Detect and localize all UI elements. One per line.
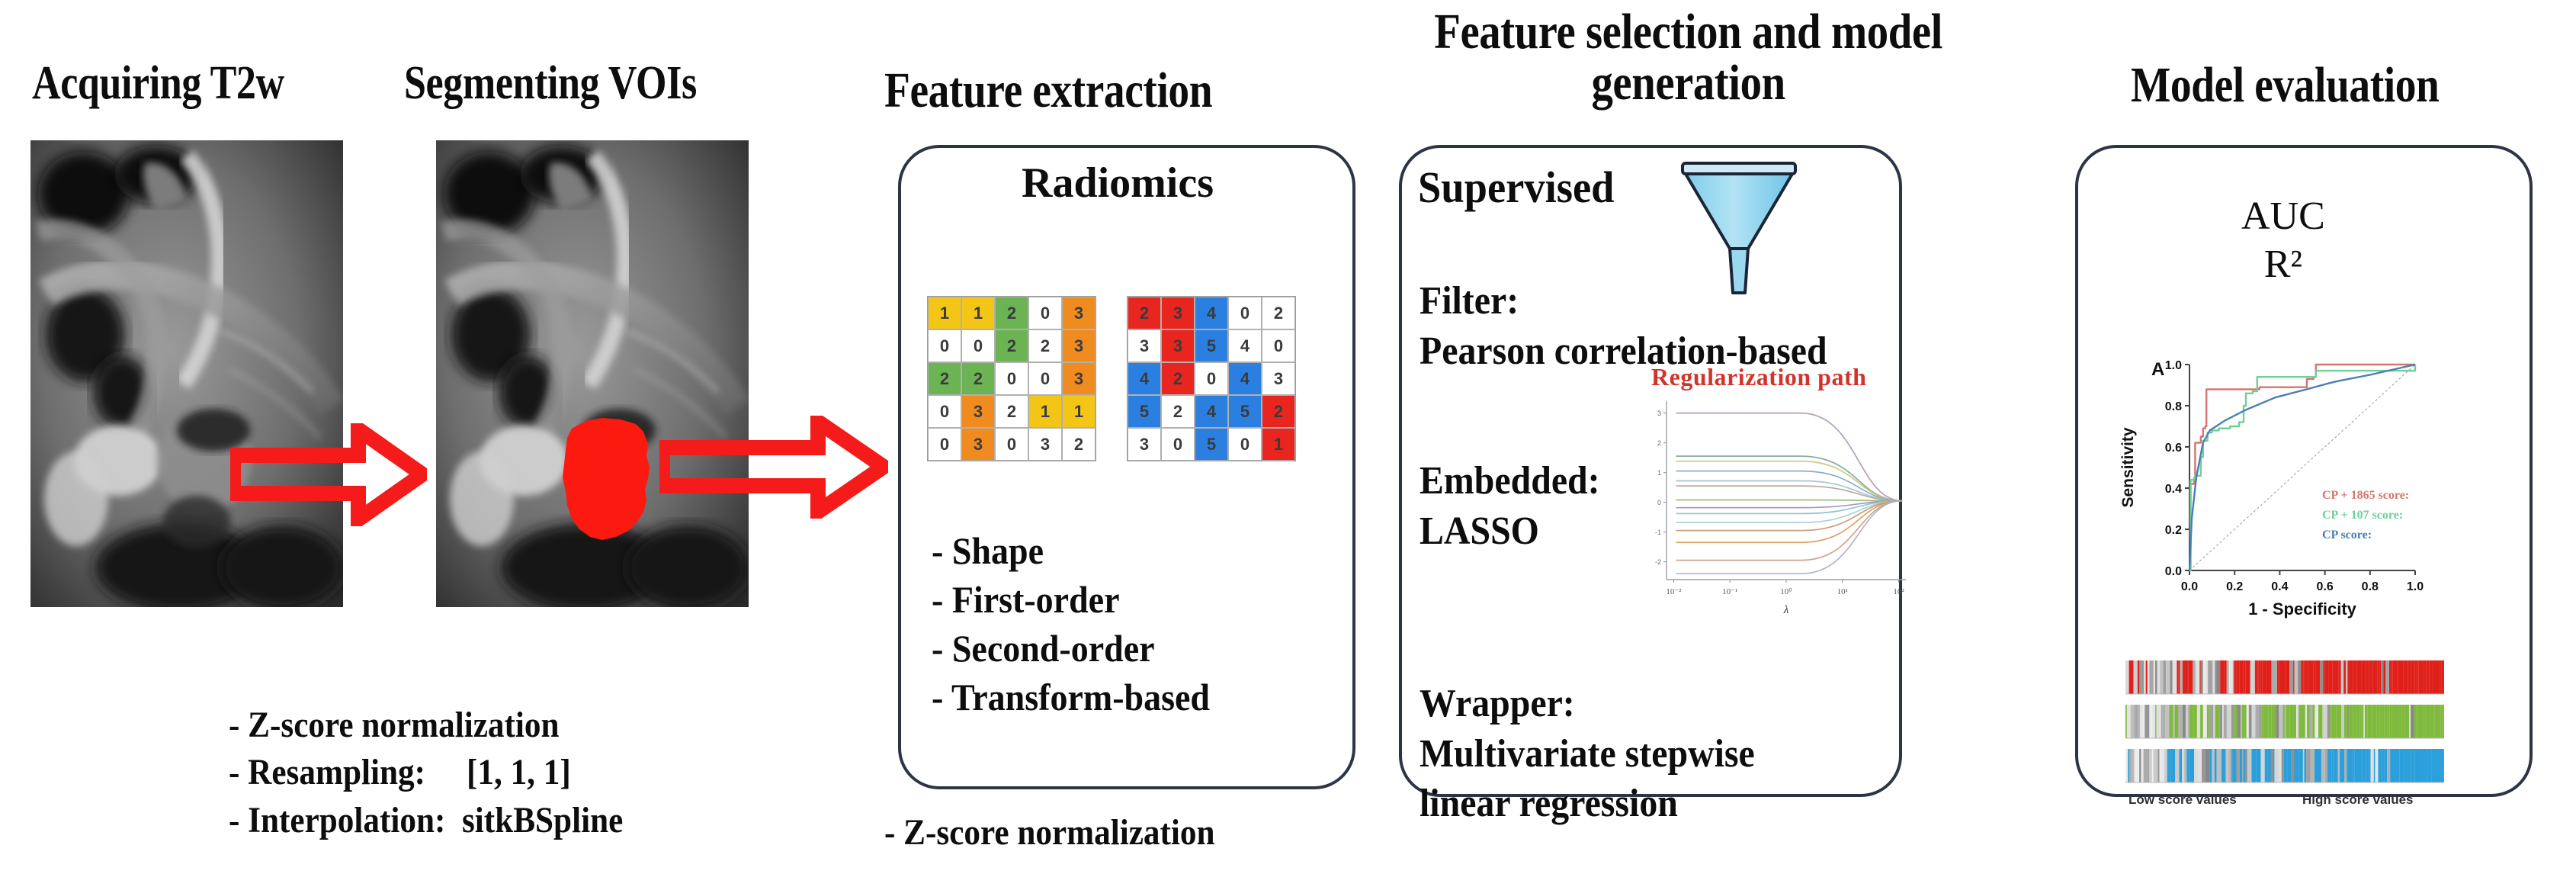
matrix-cell: 0: [928, 428, 961, 461]
matrix-cell: 3: [1262, 362, 1295, 395]
supervised-label: Supervised: [1418, 162, 1615, 213]
regularization-path-chart: 3210-1-210⁻²10⁻¹10⁰10¹10²λ: [1630, 390, 1912, 619]
filter-method-block: Filter: Pearson correlation-based: [1420, 276, 1827, 376]
matrix-cell: 2: [1161, 362, 1195, 395]
arrow-segmenting-to-extraction: [659, 416, 888, 519]
svg-text:10⁻¹: 10⁻¹: [1722, 587, 1737, 596]
heading-feature-extraction: Feature extraction: [884, 65, 1212, 116]
mri-sagittal-with-voi-illustration: [436, 140, 749, 607]
svg-text:1.0: 1.0: [2407, 580, 2424, 593]
matrix-cell: 0: [961, 329, 995, 362]
matrix-cell: 4: [1195, 297, 1228, 329]
svg-text:0.0: 0.0: [2165, 565, 2182, 578]
mri-sagittal-illustration: [30, 140, 343, 607]
workflow-diagram: Acquiring T2w Segmenting VOIs Feature ex…: [0, 0, 2576, 874]
preproc-item-resampling: - Resampling: [1, 1, 1]: [229, 749, 623, 796]
matrix-cell: 0: [1228, 428, 1262, 461]
svg-text:CP score:: CP score:: [2322, 529, 2372, 541]
matrix-cell: 0: [1195, 362, 1228, 395]
matrix-cell: 1: [1028, 395, 1062, 428]
wrapper-heading: Wrapper:: [1420, 679, 1755, 729]
svg-text:0.4: 0.4: [2271, 580, 2288, 593]
matrix-cell: 1: [928, 297, 961, 329]
matrix-cell: 0: [1228, 297, 1262, 329]
embedded-method: LASSO: [1420, 506, 1600, 557]
matrix-cell: 0: [995, 428, 1028, 461]
extraction-footer-note: - Z-score normalization: [884, 811, 1215, 853]
strip-label-low: Low score values: [2128, 792, 2237, 807]
feature-type-item: - Second-order: [932, 624, 1210, 673]
wrapper-method-line: linear regression: [1420, 779, 1755, 829]
svg-text:0.4: 0.4: [2165, 483, 2182, 496]
svg-text:10⁰: 10⁰: [1780, 587, 1792, 596]
svg-text:-1: -1: [1655, 529, 1661, 536]
matrix-cell: 0: [1028, 362, 1062, 395]
strip-label-high: High score values: [2302, 792, 2414, 807]
score-value-strips-chart: Low score valuesHigh score values: [2112, 656, 2470, 820]
matrix-cell: 0: [928, 329, 961, 362]
regularization-path-title: Regularization path: [1651, 363, 1866, 391]
svg-text:λ: λ: [1783, 604, 1789, 616]
embedded-heading: Embedded:: [1420, 456, 1600, 506]
svg-text:2: 2: [1657, 439, 1661, 447]
svg-text:10¹: 10¹: [1837, 587, 1848, 596]
matrix-cell: 4: [1195, 395, 1228, 428]
svg-text:10⁻²: 10⁻²: [1666, 587, 1682, 596]
svg-text:1: 1: [1657, 469, 1661, 477]
matrix-cell: 2: [928, 362, 961, 395]
wrapper-method-line: Multivariate stepwise: [1420, 729, 1755, 779]
svg-text:Sensitivity: Sensitivity: [2119, 427, 2137, 507]
matrix-cell: 0: [1161, 428, 1195, 461]
matrix-cell: 3: [1028, 428, 1062, 461]
metric-r2: R²: [2241, 240, 2325, 288]
matrix-cell: 0: [1262, 329, 1295, 362]
feature-matrix-right: 2340233540420435245230501: [1127, 296, 1296, 461]
svg-text:CP + 1865 score:: CP + 1865 score:: [2322, 489, 2409, 502]
heading-acquiring-t2w: Acquiring T2w: [32, 59, 284, 108]
filter-heading: Filter:: [1420, 276, 1827, 326]
matrix-cell: 2: [1262, 395, 1295, 428]
heading-model-evaluation: Model evaluation: [2131, 59, 2439, 111]
matrix-cell: 5: [1195, 329, 1228, 362]
metric-auc: AUC: [2241, 192, 2325, 240]
svg-text:0.2: 0.2: [2226, 580, 2243, 593]
matrix-cell: 5: [1195, 428, 1228, 461]
matrix-cell: 2: [1128, 297, 1161, 329]
matrix-cell: 2: [995, 329, 1028, 362]
matrix-cell: 4: [1128, 362, 1161, 395]
feature-type-item: - Shape: [932, 526, 1210, 575]
voi-segmentation-overlay: [563, 418, 650, 540]
matrix-cell: 3: [961, 395, 995, 428]
arrow-acquiring-to-segmenting: [230, 423, 427, 526]
svg-text:0: 0: [1657, 499, 1661, 506]
matrix-cell: 2: [1028, 329, 1062, 362]
panel-title-radiomics: Radiomics: [1022, 159, 1214, 207]
svg-text:1.0: 1.0: [2165, 359, 2182, 372]
matrix-cell: 2: [1062, 428, 1096, 461]
svg-text:3: 3: [1657, 410, 1661, 417]
svg-text:0.8: 0.8: [2362, 580, 2379, 593]
svg-text:A: A: [2151, 359, 2164, 380]
feature-matrix-left: 1120300223220030321103032: [927, 296, 1096, 461]
matrix-cell: 0: [995, 362, 1028, 395]
matrix-cell: 2: [995, 395, 1028, 428]
svg-text:1 - Specificity: 1 - Specificity: [2248, 599, 2357, 619]
svg-text:0.0: 0.0: [2181, 580, 2198, 593]
matrix-cell: 5: [1128, 395, 1161, 428]
feature-type-item: - First-order: [932, 575, 1210, 624]
matrix-cell: 1: [1262, 428, 1295, 461]
heading-segmenting-vois: Segmenting VOIs: [404, 59, 697, 108]
matrix-cell: 3: [1128, 329, 1161, 362]
svg-text:0.6: 0.6: [2165, 442, 2182, 455]
wrapper-method-block: Wrapper: Multivariate stepwise linear re…: [1420, 679, 1755, 829]
preproc-item-zscore: - Z-score normalization: [229, 702, 623, 749]
mri-image-segmented-voi: [436, 140, 749, 607]
matrix-cell: 1: [1062, 395, 1096, 428]
feature-type-list: - Shape - First-order - Second-order - T…: [932, 526, 1210, 721]
svg-text:0.8: 0.8: [2165, 400, 2182, 413]
matrix-cell: 2: [1262, 297, 1295, 329]
matrix-cell: 3: [1062, 362, 1096, 395]
svg-text:CP + 107 score:: CP + 107 score:: [2322, 509, 2403, 522]
mri-image-t2w: [30, 140, 343, 607]
svg-text:0.2: 0.2: [2165, 524, 2182, 537]
heading-feature-selection-model-generation: Feature selection and model generation: [1420, 6, 1957, 109]
roc-curve-chart: A0.00.20.40.60.81.00.00.20.40.60.81.01 -…: [2104, 328, 2485, 633]
svg-text:10²: 10²: [1893, 587, 1904, 596]
svg-text:0.6: 0.6: [2316, 580, 2333, 593]
matrix-cell: 4: [1228, 362, 1262, 395]
preproc-item-interpolation: - Interpolation: sitkBSpline: [229, 797, 623, 844]
matrix-cell: 3: [1062, 329, 1096, 362]
matrix-cell: 2: [1161, 395, 1195, 428]
matrix-cell: 5: [1228, 395, 1262, 428]
matrix-cell: 2: [961, 362, 995, 395]
evaluation-metrics: AUC R²: [2241, 192, 2325, 289]
matrix-cell: 0: [928, 395, 961, 428]
matrix-cell: 1: [961, 297, 995, 329]
matrix-cell: 3: [1128, 428, 1161, 461]
matrix-cell: 2: [995, 297, 1028, 329]
matrix-cell: 3: [1161, 329, 1195, 362]
embedded-method-block: Embedded: LASSO: [1420, 456, 1600, 556]
preprocessing-list: - Z-score normalization - Resampling: [1…: [229, 702, 623, 844]
feature-type-item: - Transform-based: [932, 673, 1210, 721]
matrix-cell: 0: [1028, 297, 1062, 329]
matrix-cell: 3: [1062, 297, 1096, 329]
matrix-cell: 3: [961, 428, 995, 461]
matrix-cell: 4: [1228, 329, 1262, 362]
svg-text:-2: -2: [1655, 558, 1661, 566]
matrix-cell: 3: [1161, 297, 1195, 329]
